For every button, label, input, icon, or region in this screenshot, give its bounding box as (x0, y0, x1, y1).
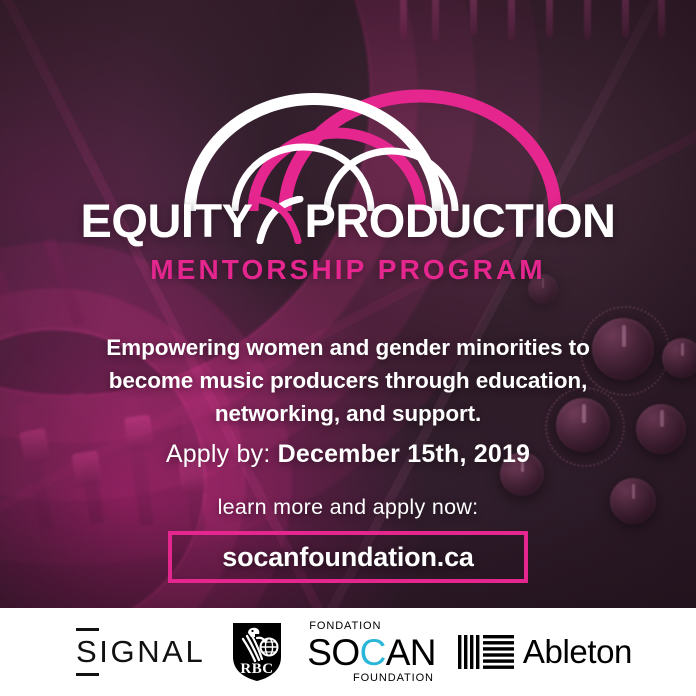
headline-row: EQUITY PRODUCTION (0, 196, 696, 244)
promo-poster: EQUITY PRODUCTION MENTORSHIP PROGRAM Emp… (0, 0, 696, 696)
ableton-wordmark: Ableton (523, 633, 632, 671)
socan-letters-so: SO (307, 632, 359, 673)
ableton-bars-icon (458, 635, 514, 669)
sponsor-footer-bar: S IGNAL (0, 608, 696, 696)
url-cta-box[interactable]: socanfoundation.ca (168, 531, 528, 583)
headline: EQUITY PRODUCTION (81, 196, 616, 244)
sponsor-logo-signal[interactable]: S IGNAL (64, 608, 231, 696)
url-text: socanfoundation.ca (222, 542, 473, 573)
signal-s-letter: S (76, 628, 99, 676)
learn-more-text: learn more and apply now: (0, 495, 696, 520)
socan-letters-an: AN (386, 632, 436, 673)
socan-foundation-label: FOUNDATION (307, 673, 436, 684)
signal-wordmark: IGNAL (99, 634, 205, 670)
socan-wordmark: SOCAN (307, 634, 436, 671)
apply-deadline-date: December 15th, 2019 (278, 440, 531, 468)
signal-initial: S (76, 634, 99, 669)
rbc-wordmark: RBC (241, 661, 274, 677)
blurb-text: Empowering women and gender minorities t… (78, 332, 618, 431)
crossed-arcs-x-icon (252, 196, 306, 244)
rbc-shield-lion-globe-icon: RBC (231, 621, 283, 683)
apply-deadline-line: Apply by: December 15th, 2019 (0, 440, 696, 469)
signal-top-bar-icon (76, 628, 99, 631)
socan-fondation-label: FONDATION (307, 621, 436, 632)
sponsor-logo-rbc[interactable]: RBC (231, 608, 283, 696)
signal-bottom-bar-icon (76, 673, 99, 676)
headline-word-production: PRODUCTION (305, 197, 616, 244)
socan-letter-c: C (360, 632, 386, 673)
apply-prefix: Apply by: (166, 440, 278, 468)
sponsor-logo-ableton[interactable]: Ableton (458, 608, 632, 696)
arc-logo-graphic (0, 48, 696, 213)
headline-word-equity: EQUITY (81, 197, 253, 244)
sponsor-logo-socan-foundation[interactable]: FONDATION SOCAN FOUNDATION (307, 608, 458, 696)
subheadline: MENTORSHIP PROGRAM (0, 254, 696, 286)
